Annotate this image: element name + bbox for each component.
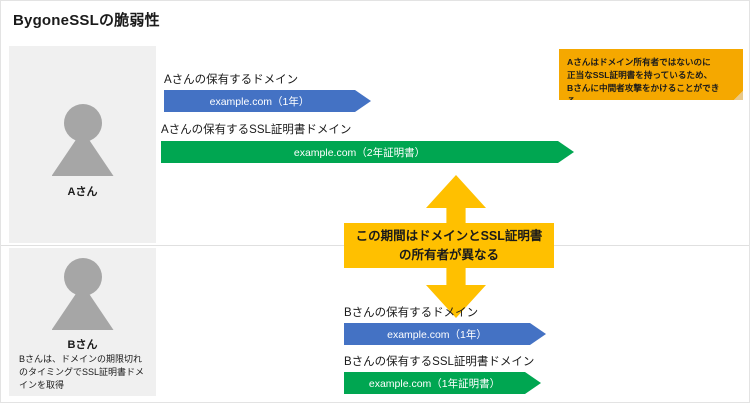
bar-a-certificate-text: example.com（2年証明書） [294,145,425,160]
bar-a-certificate: example.com（2年証明書） [161,141,574,163]
bar-label-a-certificate: Aさんの保有するSSL証明書ドメイン [161,121,351,137]
diagram-canvas: BygoneSSLの脆弱性 Aさん Bさん Bさんは、ドメインの期限切れのタイミ… [0,0,750,403]
attack-callout-line3: Bさんに中間者攻撃をかけることができる。 [567,82,735,108]
attack-callout-line2: 正当なSSL証明書を持っているため、 [567,69,735,82]
center-banner-line2: の所有者が異なる [399,248,499,262]
bar-b-domain: example.com（1年） [344,323,546,345]
person-body-shape [52,284,114,330]
person-body-shape [52,130,114,176]
bar-b-certificate-text: example.com（1年証明書） [369,376,500,391]
attack-callout-line1: Aさんはドメイン所有者ではないのに [567,56,735,69]
attack-callout: Aさんはドメイン所有者ではないのに 正当なSSL証明書を持っているため、 Bさん… [559,49,743,100]
bar-b-domain-text: example.com（1年） [387,327,487,342]
actor-panel-bottom: Bさん Bさんは、ドメインの期限切れのタイミングでSSL証明書ドメインを取得 [9,248,156,396]
bar-b-certificate: example.com（1年証明書） [344,372,541,394]
actor-panel-top: Aさん [9,46,156,243]
bar-a-domain-text: example.com（1年） [210,94,310,109]
bar-label-b-domain: Bさんの保有するドメイン [344,304,478,320]
page-title: BygoneSSLの脆弱性 [13,9,160,30]
actor-name-top: Aさん [9,183,156,199]
actor-name-bottom: Bさん [9,336,156,352]
actor-note-bottom: Bさんは、ドメインの期限切れのタイミングでSSL証明書ドメインを取得 [19,353,147,391]
center-banner: この期間はドメインとSSL証明書 の所有者が異なる [344,223,554,268]
center-banner-line1: この期間はドメインとSSL証明書 [356,229,543,243]
person-silhouette-icon [52,104,114,176]
bar-label-b-certificate: Bさんの保有するSSL証明書ドメイン [344,353,534,369]
bar-label-a-domain: Aさんの保有するドメイン [164,71,298,87]
person-silhouette-icon [52,258,114,330]
bar-a-domain: example.com（1年） [164,90,371,112]
